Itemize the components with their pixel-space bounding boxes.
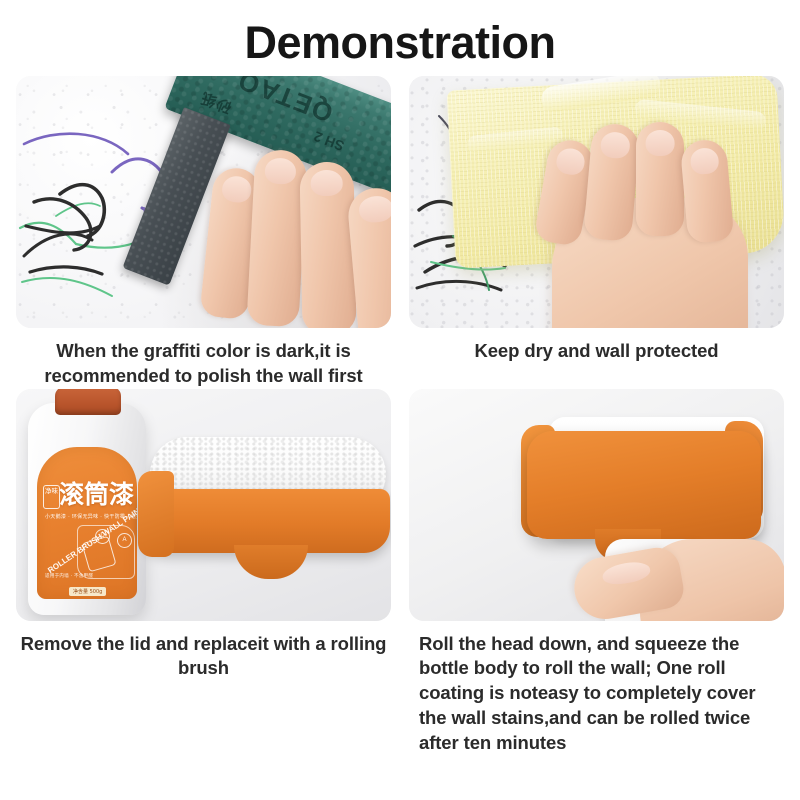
label-title: 滚筒漆 — [59, 481, 134, 509]
hand-wiping-wall — [536, 136, 766, 328]
panel-polish-wall: QETAO 砂纸 SH 2 When the graffiti color is… — [16, 76, 391, 389]
finger — [246, 149, 307, 327]
thumbnail — [601, 559, 651, 587]
page-title: Demonstration — [0, 0, 800, 76]
finger — [680, 138, 735, 244]
demonstration-grid: QETAO 砂纸 SH 2 When the graffiti color is… — [16, 76, 784, 755]
caption-roll-the-wall: Roll the head down, and squeeze the bott… — [409, 621, 784, 756]
caption-keep-dry: Keep dry and wall protected — [409, 328, 784, 364]
paint-bottle: 净味 滚筒漆 小天鹅漆 · 环保无异味 · 快干防霉 · 遮盖力强 ROLLER… — [28, 403, 146, 615]
photo-keep-dry — [409, 76, 784, 328]
hand-holding-block — [207, 122, 391, 328]
label-badge: 净味 — [43, 485, 60, 509]
panel-replace-lid: 净味 滚筒漆 小天鹅漆 · 环保无异味 · 快干防霉 · 遮盖力强 ROLLER… — [16, 389, 391, 756]
panel-roll-the-wall: Roll the head down, and squeeze the bott… — [409, 389, 784, 756]
product-label: 净味 滚筒漆 小天鹅漆 · 环保无异味 · 快干防霉 · 遮盖力强 ROLLER… — [37, 447, 137, 599]
photo-roll-the-wall — [409, 389, 784, 621]
hand-squeezing-bottle — [566, 527, 778, 621]
finger — [583, 122, 641, 242]
label-icon-a: A — [117, 533, 132, 548]
roller-stem — [234, 545, 308, 579]
caption-polish-wall: When the graffiti color is dark,it is re… — [16, 328, 391, 389]
roller-brush-head — [138, 437, 390, 587]
fingernail — [310, 170, 343, 197]
panel-keep-dry: Keep dry and wall protected — [409, 76, 784, 389]
fingernail — [264, 157, 297, 185]
fingernail — [221, 175, 252, 204]
fingernail — [690, 147, 720, 175]
finger — [300, 162, 357, 328]
finger — [636, 122, 684, 236]
roller-housing — [527, 431, 761, 539]
caption-replace-lid: Remove the lid and replaceit with a roll… — [16, 621, 391, 682]
label-icon-d: D — [95, 529, 110, 544]
fingernail — [600, 131, 631, 159]
label-weight-badge: 净含量 500g — [69, 587, 106, 596]
fingernail — [646, 130, 675, 156]
photo-replace-lid: 净味 滚筒漆 小天鹅漆 · 环保无异味 · 快干防霉 · 遮盖力强 ROLLER… — [16, 389, 391, 621]
fingernail — [555, 146, 587, 176]
block-brand-text: QETAO — [232, 76, 337, 129]
label-footer: 适用于内墙 · 不含甲醛 — [45, 573, 93, 579]
photo-polish-wall: QETAO 砂纸 SH 2 — [16, 76, 391, 328]
roller-housing — [138, 489, 390, 553]
bottle-cap — [55, 389, 121, 415]
fingernail — [358, 195, 391, 224]
roller-end-cap — [138, 471, 174, 557]
